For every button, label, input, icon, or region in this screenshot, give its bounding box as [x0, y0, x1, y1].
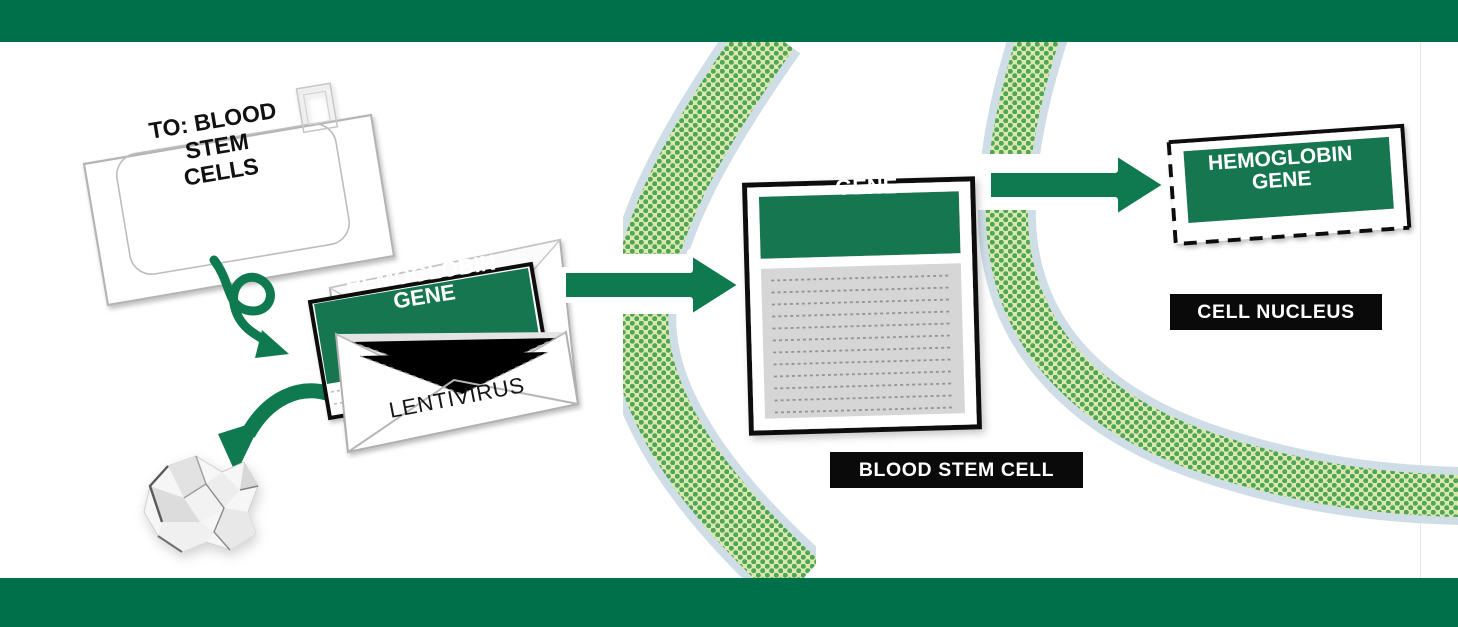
status-badge-blood-stem-cell: BLOOD STEM CELL [830, 452, 1083, 488]
envelope-front-flap [336, 332, 578, 452]
nuclear-membrane [1007, 42, 1458, 496]
crumpled-paper-ball [144, 456, 258, 552]
discard-arrow [218, 391, 330, 474]
inserted-hemoglobin-gene-card [1169, 126, 1410, 244]
status-badge-cell-nucleus: CELL NUCLEUS [1170, 294, 1382, 330]
hemoglobin-gene-document [745, 179, 980, 433]
top-brand-bar [0, 0, 1458, 42]
document-body [761, 263, 965, 419]
bottom-brand-bar [0, 578, 1458, 627]
addressed-envelope [84, 83, 394, 305]
document-header-band [759, 191, 961, 259]
diagram-canvas: TO: BLOOD STEM CELLS HEMOGLOBIN GENE LEN… [0, 0, 1458, 627]
